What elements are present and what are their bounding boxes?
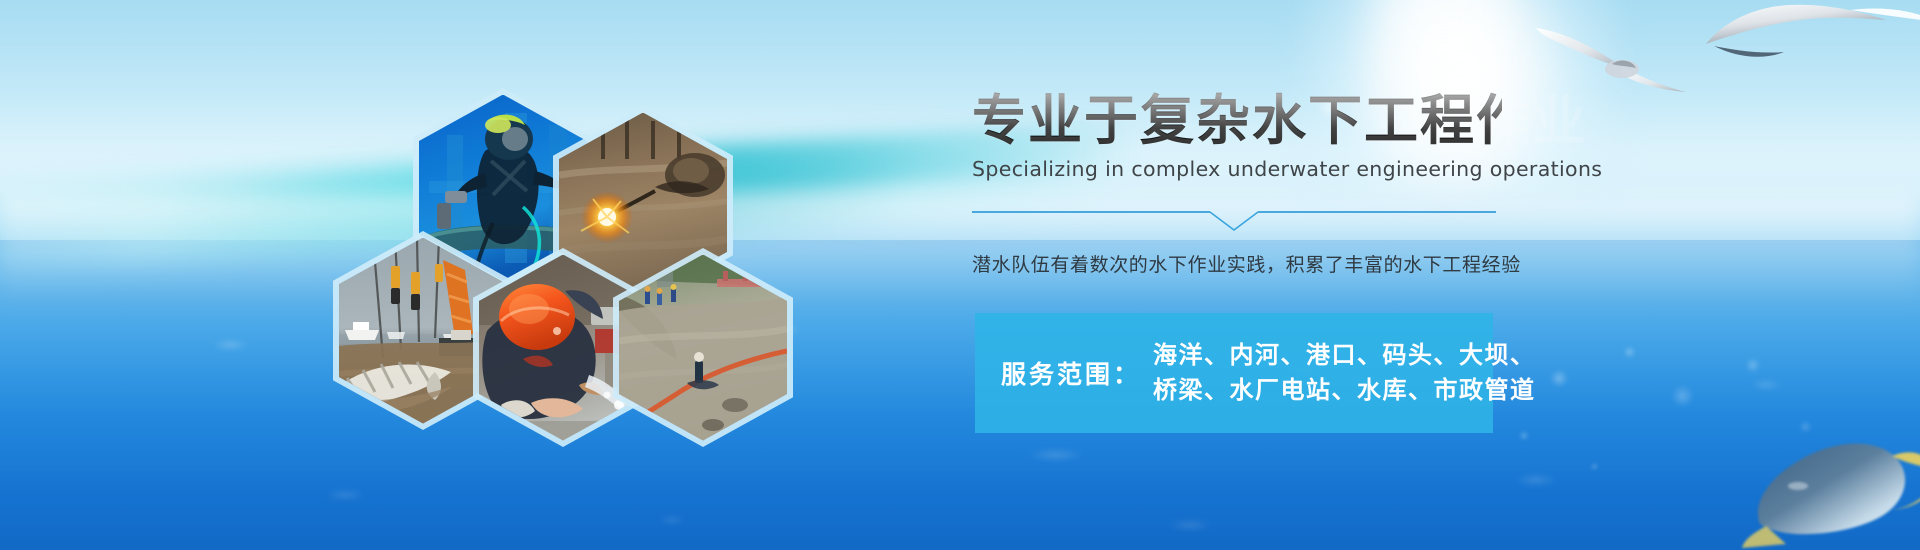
- tropical-fish-icon: [1742, 398, 1920, 550]
- service-scope-box: 服务范围： 海洋、内河、港口、码头、大坝、 桥梁、水厂电站、水库、市政管道: [975, 313, 1493, 433]
- service-scope-items: 海洋、内河、港口、码头、大坝、 桥梁、水厂电站、水库、市政管道: [1153, 338, 1536, 408]
- banner-headline-cn: 专业于复杂水下工程作业: [972, 92, 1502, 150]
- divider: [972, 206, 1496, 232]
- service-scope-line-1: 海洋、内河、港口、码头、大坝、: [1153, 338, 1536, 373]
- banner-description: 潜水队伍有着数次的水下作业实践，积累了丰富的水下工程经验: [972, 250, 1521, 277]
- service-scope-line-2: 桥梁、水厂电站、水库、市政管道: [1153, 373, 1536, 408]
- seagull-icon: [1700, 0, 1920, 86]
- hero-banner: 专业于复杂水下工程作业 Specializing in complex unde…: [0, 0, 1920, 550]
- banner-text-block: 专业于复杂水下工程作业 Specializing in complex unde…: [972, 92, 1502, 181]
- hexagon-photo-cluster: [405, 88, 805, 388]
- lens-flare-fleck: [1430, 54, 1444, 68]
- sea-haze: [0, 195, 1920, 305]
- banner-headline-en: Specializing in complex underwater engin…: [972, 157, 1502, 181]
- chevron-down-icon: [1210, 212, 1258, 230]
- hexagon-photo-clip: [619, 255, 787, 441]
- service-scope-label: 服务范围：: [1001, 355, 1141, 391]
